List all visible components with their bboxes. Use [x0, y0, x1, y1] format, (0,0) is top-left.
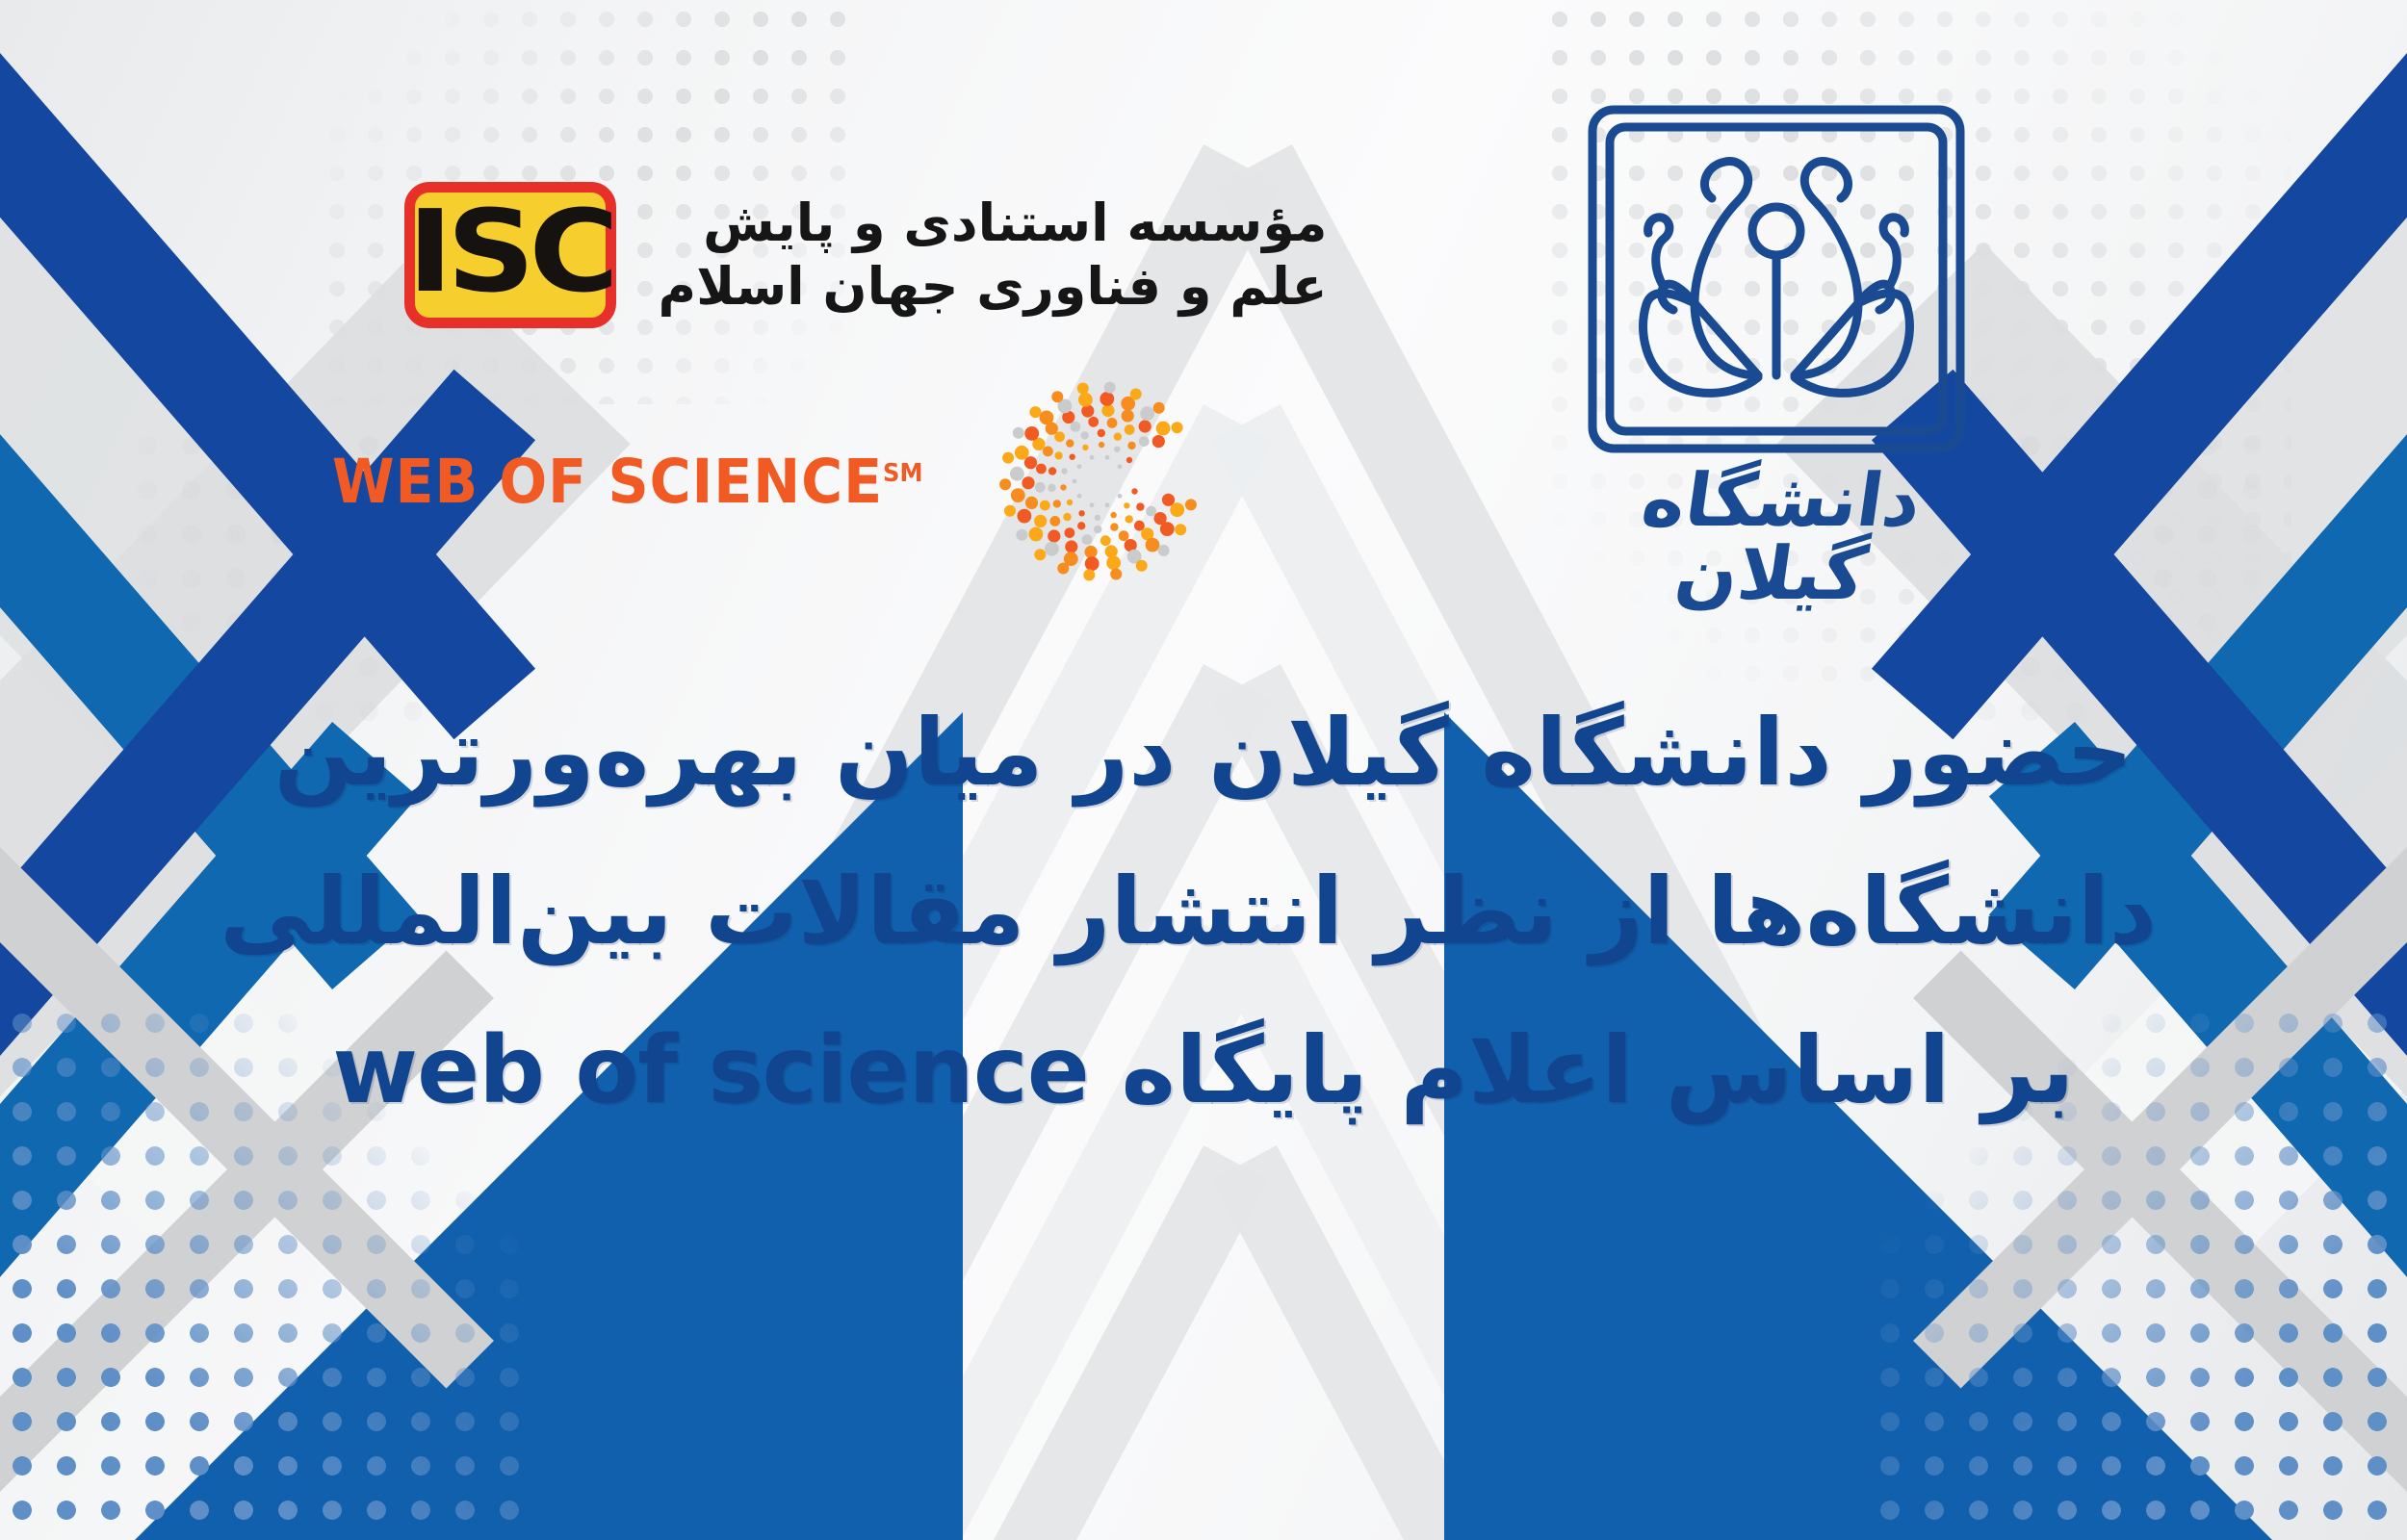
- web-of-science-sm-mark: SM: [883, 459, 922, 488]
- isc-badge-icon: ISC: [404, 182, 616, 328]
- headline-line-1: حضور دانشگاه گیلان در میان بهره‌ورترین: [250, 674, 2157, 833]
- isc-persian-line-2: علم و فناوری جهان اسلام: [659, 255, 1328, 319]
- headline-line-3-persian: بر اساس اعلام پایگاه: [1121, 1016, 2074, 1124]
- headline: حضور دانشگاه گیلان در میان بهره‌ورترین د…: [0, 674, 2407, 1150]
- web-of-science-wordmark-text: WEB OF SCIENCE: [332, 447, 883, 517]
- headline-line-2: دانشگاه‌ها از نظر انتشار مقالات بین‌المل…: [250, 833, 2157, 991]
- university-of-guilan-logo: دانشگاه گیلان: [1569, 87, 1983, 587]
- headline-line-3: بر اساس اعلام پایگاه web of science: [250, 991, 2157, 1150]
- poster-canvas: ISC مؤسسه استنادی و پایش علم و فناوری جه…: [0, 0, 2407, 1540]
- web-of-science-logo: WEB OF SCIENCESM: [433, 371, 1203, 592]
- isc-persian-name: مؤسسه استنادی و پایش علم و فناوری جهان ا…: [659, 192, 1328, 319]
- guilan-emblem-icon: [1569, 87, 1983, 472]
- guilan-name-calligraphy: دانشگاه گیلان: [1559, 464, 1993, 610]
- web-of-science-dot-mark-icon: [996, 378, 1203, 585]
- headline-line-3-english: web of science: [332, 1016, 1089, 1124]
- web-of-science-wordmark: WEB OF SCIENCESM: [332, 447, 923, 517]
- isc-persian-line-1: مؤسسه استنادی و پایش: [659, 192, 1328, 255]
- isc-logo: ISC مؤسسه استنادی و پایش علم و فناوری جه…: [404, 164, 1252, 346]
- isc-badge-text: ISC: [407, 194, 612, 316]
